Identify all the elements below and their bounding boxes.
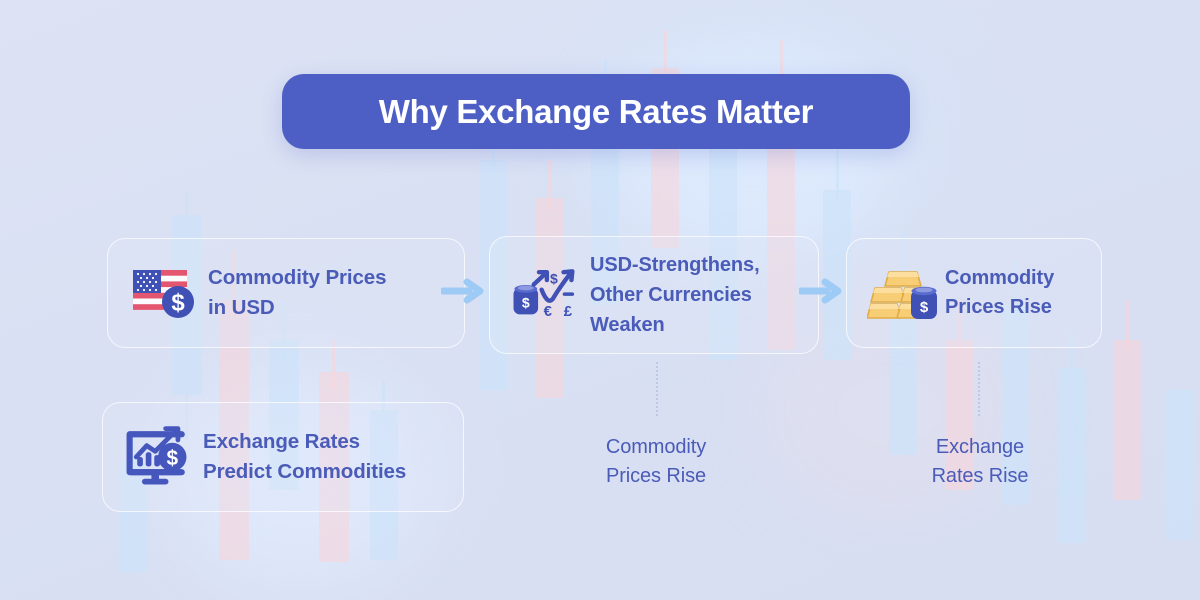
us-flag-dollar-icon: $ bbox=[128, 257, 200, 329]
currency-trend-icon: $ $ € £ bbox=[510, 259, 582, 331]
arrow-card1-to-card2 bbox=[441, 277, 485, 305]
card-label-line2: Prices Rise bbox=[945, 296, 1052, 318]
arrow-card2-to-card3 bbox=[799, 277, 843, 305]
card-commodity-prices-in-usd[interactable]: $ Commodity Prices in USD bbox=[107, 238, 465, 348]
card-usd-strengthens[interactable]: $ $ € £ USD-Strengthens, Other Currenci bbox=[489, 236, 819, 354]
card-label-line2: Predict Commodities bbox=[203, 460, 406, 483]
dashed-connector-right bbox=[978, 362, 980, 416]
card-label-line1: USD-Strengthens, bbox=[590, 254, 760, 276]
gold-bars-coin-icon: $ bbox=[867, 257, 939, 329]
card-label: Exchange Rates Predict Commodities bbox=[203, 427, 406, 486]
caption-line2: Rates Rise bbox=[932, 465, 1029, 487]
card-commodity-prices-rise[interactable]: $ Commodity Prices Rise bbox=[846, 238, 1102, 348]
page-title-pill: Why Exchange Rates Matter bbox=[282, 74, 910, 149]
svg-text:$: $ bbox=[522, 294, 530, 310]
dashed-connector-center bbox=[656, 362, 658, 416]
svg-text:$: $ bbox=[166, 447, 178, 470]
card-label: Commodity Prices in USD bbox=[208, 263, 386, 322]
card-label-line3: Weaken bbox=[590, 314, 665, 336]
caption-commodity-prices-rise: Commodity Prices Rise bbox=[556, 433, 756, 491]
card-label-line1: Exchange Rates bbox=[203, 430, 360, 453]
infographic-canvas: Why Exchange Rates Matter bbox=[0, 0, 1200, 600]
card-label: USD-Strengthens, Other Currencies Weaken bbox=[590, 250, 760, 340]
svg-text:£: £ bbox=[564, 303, 573, 320]
card-label-line1: Commodity Prices bbox=[208, 266, 386, 289]
card-label: Commodity Prices Rise bbox=[945, 264, 1054, 322]
card-label-line1: Commodity bbox=[945, 267, 1054, 289]
svg-text:$: $ bbox=[920, 299, 929, 316]
caption-line2: Prices Rise bbox=[606, 465, 706, 487]
svg-text:$: $ bbox=[171, 290, 185, 317]
page-title: Why Exchange Rates Matter bbox=[379, 93, 813, 131]
caption-line1: Exchange bbox=[936, 436, 1024, 458]
caption-line1: Commodity bbox=[606, 436, 706, 458]
card-label-line2: in USD bbox=[208, 296, 275, 319]
card-exchange-rates-predict-commodities[interactable]: $ Exchange Rates Predict Commodities bbox=[102, 402, 464, 512]
card-label-line2: Other Currencies bbox=[590, 284, 752, 306]
svg-text:$: $ bbox=[550, 271, 558, 287]
caption-exchange-rates-rise: Exchange Rates Rise bbox=[880, 433, 1080, 491]
svg-text:€: € bbox=[544, 303, 553, 320]
monitor-growth-chart-icon: $ bbox=[123, 421, 195, 493]
